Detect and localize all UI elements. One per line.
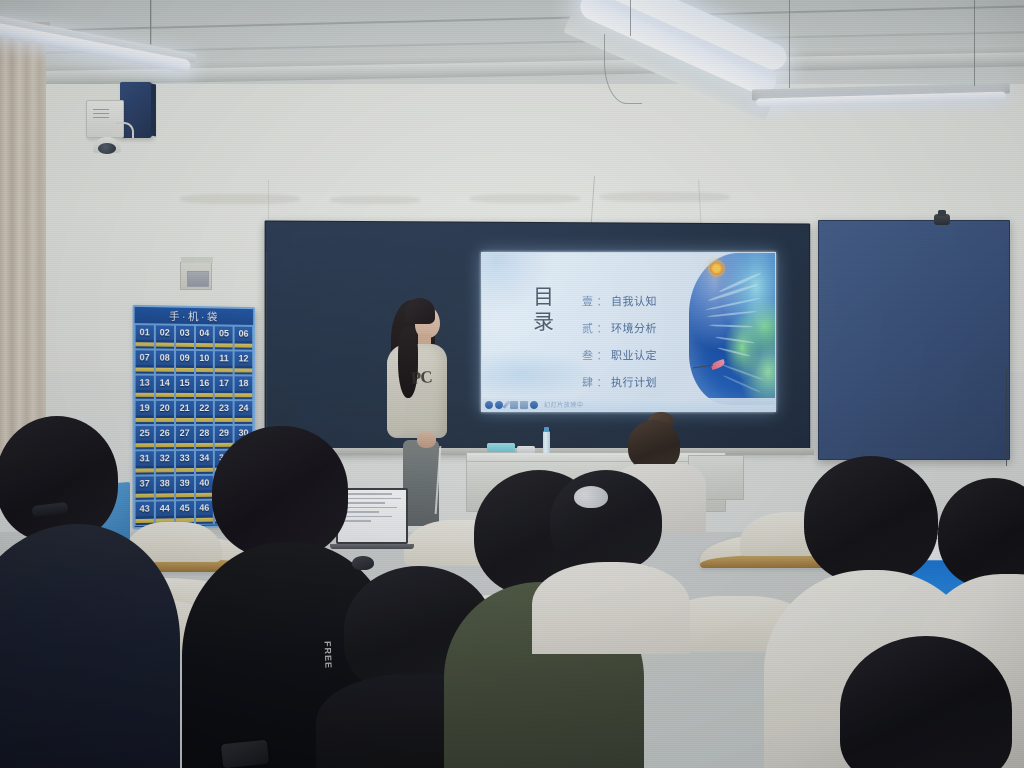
phone-pocket-number: 44 xyxy=(160,503,170,513)
phone-pocket-number: 20 xyxy=(160,403,170,413)
phone-pocket-number: 12 xyxy=(239,353,249,363)
phone-on-desk[interactable] xyxy=(221,740,269,768)
phone-pocket-number: 17 xyxy=(219,378,229,388)
computer-mouse[interactable] xyxy=(352,556,374,570)
slide-toc-numeral: 壹 xyxy=(582,293,594,309)
slide-toc-numeral: 叁 xyxy=(582,347,594,363)
phone-pocket-number: 04 xyxy=(199,328,209,338)
phone-pocket[interactable]: 24 xyxy=(234,400,253,425)
phone-pocket[interactable]: 06 xyxy=(234,326,253,351)
slide-artwork xyxy=(689,253,775,405)
slide-toc-separator: ： xyxy=(597,347,609,363)
phone-pocket[interactable]: 10 xyxy=(195,350,215,375)
light-hanger-wire-center xyxy=(630,0,631,36)
water-bottle xyxy=(543,431,550,453)
light-hanger-wire-right-a xyxy=(789,0,790,88)
light-hanger-wire-left xyxy=(150,0,151,44)
board-cable-left xyxy=(266,252,267,442)
pointer-icon[interactable] xyxy=(495,401,503,409)
phone-pocket-number: 05 xyxy=(219,328,229,338)
phone-pocket[interactable]: 23 xyxy=(214,400,234,425)
presenter-trousers xyxy=(403,440,439,526)
student-hairclip xyxy=(540,470,676,620)
phone-pocket-number: 45 xyxy=(180,503,190,513)
presentation-toolbar[interactable]: 幻灯片放映中 xyxy=(482,398,775,411)
light-hanger-wire-right-b xyxy=(974,0,975,86)
toolbar-status-text: 幻灯片放映中 xyxy=(544,400,584,409)
phone-pocket-number: 15 xyxy=(180,378,190,388)
sun-icon xyxy=(710,262,723,275)
sweatshirt-graphic: PC xyxy=(410,367,432,388)
zoom-icon[interactable] xyxy=(520,401,528,409)
phone-pocket[interactable]: 03 xyxy=(175,325,195,350)
slide-list-icon[interactable] xyxy=(510,401,518,409)
phone-pocket[interactable]: 11 xyxy=(214,350,234,375)
phone-pocket[interactable]: 27 xyxy=(175,425,195,450)
phone-pocket[interactable]: 04 xyxy=(195,325,215,350)
phone-pocket-number: 22 xyxy=(199,403,209,413)
phone-pocket-number: 08 xyxy=(160,353,170,363)
phone-pocket[interactable]: 39 xyxy=(175,475,195,500)
phone-pocket[interactable]: 09 xyxy=(175,350,195,375)
hair-clip xyxy=(574,486,608,508)
phone-pocket[interactable]: 01 xyxy=(135,324,155,349)
slide-toc-item: 壹：自我认知 xyxy=(582,293,657,309)
phone-pocket-number: 32 xyxy=(160,453,170,463)
phone-pocket-number: 10 xyxy=(199,353,209,363)
phone-pocket[interactable]: 18 xyxy=(234,375,253,400)
play-icon[interactable] xyxy=(485,401,493,409)
classroom-scene: 手·机·袋 0102030405060708091011121314151617… xyxy=(0,0,1024,768)
phone-pocket[interactable]: 02 xyxy=(155,324,175,349)
board-cable-right xyxy=(1006,370,1007,466)
slide-toc-numeral: 贰 xyxy=(582,320,594,336)
slide-toc-item: 贰：环境分析 xyxy=(582,320,657,336)
phone-pocket-number: 39 xyxy=(180,478,190,488)
phone-pocket-number: 16 xyxy=(199,378,209,388)
phone-pocket[interactable]: 15 xyxy=(175,375,195,400)
phone-pocket-number: 19 xyxy=(140,403,150,413)
slide-toc-item: 肆：执行计划 xyxy=(582,374,657,390)
phone-pocket-number: 27 xyxy=(180,428,190,438)
phone-pocket-number: 01 xyxy=(140,327,150,337)
phone-pocket-number: 06 xyxy=(239,329,249,339)
phone-pocket[interactable]: 07 xyxy=(135,349,155,374)
phone-organizer-title: 手·机·袋 xyxy=(135,307,254,326)
slide-toc-separator: ： xyxy=(597,293,609,309)
phone-pocket-number: 21 xyxy=(180,403,190,413)
phone-pocket-number: 14 xyxy=(160,378,170,388)
phone-pocket-number: 11 xyxy=(219,353,228,363)
slide-toc-label: 执行计划 xyxy=(611,374,657,390)
projected-slide: 目录 壹：自我认知贰：环境分析叁：职业认定肆：执行计划 幻灯片放映中 xyxy=(481,252,776,412)
phone-pocket[interactable]: 21 xyxy=(175,400,195,425)
phone-pocket[interactable]: 13 xyxy=(135,375,155,400)
student-back-left-navy-hoodie xyxy=(0,416,160,768)
phone-pocket-number: 07 xyxy=(140,352,150,362)
phone-pocket[interactable]: 05 xyxy=(214,325,234,350)
phone-pocket[interactable]: 17 xyxy=(214,375,234,400)
more-options-icon[interactable] xyxy=(530,401,538,409)
chalk-box xyxy=(517,446,535,453)
phone-pocket[interactable]: 14 xyxy=(155,375,175,400)
eraser-box xyxy=(487,443,515,452)
phone-pocket[interactable]: 08 xyxy=(155,350,175,375)
phone-pocket-number: 03 xyxy=(180,328,190,338)
phone-pocket[interactable]: 33 xyxy=(175,450,195,475)
phone-pocket-number: 38 xyxy=(160,478,170,488)
phone-pocket-number: 09 xyxy=(180,353,190,363)
camera-mount-arm xyxy=(116,122,134,138)
slide-toc-separator: ： xyxy=(597,374,609,390)
slide-toc-label: 自我认知 xyxy=(611,293,657,309)
phone-pocket-number: 26 xyxy=(160,428,170,438)
board-clip xyxy=(934,214,950,225)
slide-toc-separator: ： xyxy=(597,320,609,336)
phone-pocket-number: 18 xyxy=(239,378,249,388)
phone-pocket[interactable]: 12 xyxy=(234,350,253,375)
slide-toc-label: 环境分析 xyxy=(611,320,657,336)
phone-pocket-number: 02 xyxy=(160,327,170,337)
slide-toc-label: 职业认定 xyxy=(611,347,657,363)
phone-pocket-number: 23 xyxy=(219,403,229,413)
phone-pocket-number: 33 xyxy=(180,453,190,463)
slide-toc-numeral: 肆 xyxy=(582,374,594,390)
side-blackboard-panel xyxy=(818,220,1010,460)
wall-switch-panel[interactable] xyxy=(180,262,212,290)
student-bottom-right xyxy=(826,636,1024,768)
phone-pocket-number: 13 xyxy=(140,378,150,388)
slide-toc-item: 叁：职业认定 xyxy=(582,347,657,363)
phone-pocket-number: 24 xyxy=(239,403,249,413)
phone-pocket[interactable]: 16 xyxy=(195,375,215,400)
phone-pocket[interactable]: 22 xyxy=(195,400,215,425)
slide-heading: 目录 xyxy=(525,285,563,335)
control-box-labels xyxy=(93,109,109,121)
slide-table-of-contents: 壹：自我认知贰：环境分析叁：职业认定肆：执行计划 xyxy=(582,293,657,401)
